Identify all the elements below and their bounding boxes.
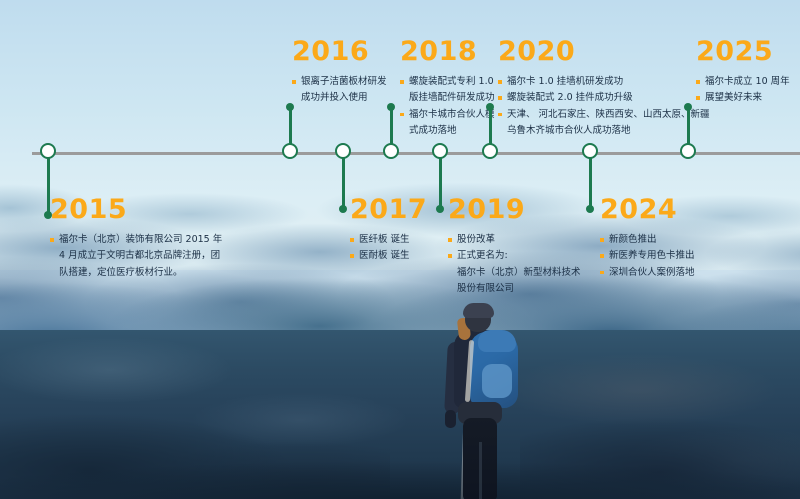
timeline-node-enddot-2019 — [436, 205, 444, 213]
timeline-year-label-2020: 2020 — [498, 38, 710, 65]
timeline-bullet: 股份改革 — [448, 232, 581, 247]
timeline-node-stem-2017 — [342, 157, 345, 209]
timeline-bullet: 福尔卡 1.0 挂墙机研发成功 — [498, 74, 710, 89]
hiker-hand — [445, 410, 456, 428]
timeline-entry-2016: 2016银离子洁菌板材研发成功并投入使用 — [292, 38, 387, 107]
timeline-bullet: 深圳合伙人案例落地 — [600, 265, 695, 280]
timeline-bullet: 天津、 河北石家庄、陕西西安、山西太原、新疆 — [498, 107, 710, 122]
timeline-bullet-list-2019: 股份改革正式更名为:福尔卡（北京）新型材料技术股份有限公司 — [448, 232, 581, 297]
timeline-node-2017[interactable] — [335, 143, 355, 163]
timeline-node-enddot-2018 — [387, 103, 395, 111]
foreground-ridge-bottom — [0, 446, 800, 499]
timeline-bullet: 队搭建，定位医疗板材行业。 — [50, 265, 222, 280]
timeline-entry-2015: 2015福尔卡（北京）装饰有限公司 2015 年4 月成立于文明古都北京品牌注册… — [50, 196, 222, 281]
timeline-infographic: 2015福尔卡（北京）装饰有限公司 2015 年4 月成立于文明古都北京品牌注册… — [0, 0, 800, 499]
timeline-entry-2025: 2025福尔卡成立 10 周年展望美好未来 — [696, 38, 790, 107]
timeline-node-circle-2018 — [383, 143, 399, 159]
timeline-node-circle-2015 — [40, 143, 56, 159]
timeline-node-enddot-2016 — [286, 103, 294, 111]
timeline-node-enddot-2025 — [684, 103, 692, 111]
timeline-bullet-list-2017: 医纤板 诞生医耐板 诞生 — [350, 232, 427, 264]
timeline-bullet: 福尔卡（北京）新型材料技术 — [448, 265, 581, 280]
timeline-bullet-list-2015: 福尔卡（北京）装饰有限公司 2015 年4 月成立于文明古都北京品牌注册，团队搭… — [50, 232, 222, 280]
timeline-bullet: 新医养专用色卡推出 — [600, 248, 695, 263]
timeline-bullet: 新颜色推出 — [600, 232, 695, 247]
timeline-entry-2018: 2018螺旋装配式专利 1.0版挂墙配件研发成功福尔卡城市合伙人模式成功落地 — [400, 38, 495, 140]
timeline-year-label-2015: 2015 — [50, 196, 222, 223]
timeline-bullet: 福尔卡成立 10 周年 — [696, 74, 790, 89]
timeline-node-circle-2024 — [582, 143, 598, 159]
timeline-year-label-2025: 2025 — [696, 38, 790, 65]
timeline-year-label-2017: 2017 — [350, 196, 427, 223]
timeline-bullet: 式成功落地 — [400, 123, 495, 138]
timeline-node-2025[interactable] — [680, 143, 700, 163]
timeline-bullet: 福尔卡（北京）装饰有限公司 2015 年 — [50, 232, 222, 247]
timeline-bullet-list-2024: 新颜色推出新医养专用色卡推出深圳合伙人案例落地 — [600, 232, 695, 280]
timeline-bullet: 福尔卡城市合伙人模 — [400, 107, 495, 122]
timeline-node-enddot-2015 — [44, 211, 52, 219]
timeline-year-label-2019: 2019 — [448, 196, 581, 223]
timeline-node-stem-2015 — [47, 157, 50, 215]
timeline-node-circle-2016 — [282, 143, 298, 159]
timeline-bullet: 螺旋装配式 2.0 挂件成功升级 — [498, 90, 710, 105]
timeline-year-label-2018: 2018 — [400, 38, 495, 65]
timeline-node-2016[interactable] — [282, 143, 302, 163]
timeline-node-enddot-2017 — [339, 205, 347, 213]
timeline-node-2018[interactable] — [383, 143, 403, 163]
timeline-bullet: 乌鲁木齐城市合伙人成功落地 — [498, 123, 710, 138]
timeline-node-enddot-2024 — [586, 205, 594, 213]
timeline-entry-2020: 2020福尔卡 1.0 挂墙机研发成功螺旋装配式 2.0 挂件成功升级天津、 河… — [498, 38, 710, 140]
timeline-year-label-2016: 2016 — [292, 38, 387, 65]
timeline-entry-2017: 2017医纤板 诞生医耐板 诞生 — [350, 196, 427, 265]
timeline-node-2020[interactable] — [482, 143, 502, 163]
timeline-node-circle-2019 — [432, 143, 448, 159]
timeline-entry-2019: 2019股份改革正式更名为:福尔卡（北京）新型材料技术股份有限公司 — [448, 196, 581, 298]
timeline-bullet: 正式更名为: — [448, 248, 581, 263]
timeline-bullet: 版挂墙配件研发成功 — [400, 90, 495, 105]
timeline-node-2024[interactable] — [582, 143, 602, 163]
timeline-bullet: 股份有限公司 — [448, 281, 581, 296]
backpack-lid — [478, 330, 516, 352]
timeline-bullet: 展望美好未来 — [696, 90, 790, 105]
timeline-node-stem-2019 — [439, 157, 442, 209]
timeline-bullet-list-2020: 福尔卡 1.0 挂墙机研发成功螺旋装配式 2.0 挂件成功升级天津、 河北石家庄… — [498, 74, 710, 139]
timeline-bullet: 银离子洁菌板材研发 — [292, 74, 387, 89]
timeline-node-circle-2020 — [482, 143, 498, 159]
hiker-cap — [463, 303, 494, 318]
timeline-bullet: 螺旋装配式专利 1.0 — [400, 74, 495, 89]
timeline-bullet: 4 月成立于文明古都北京品牌注册，团 — [50, 248, 222, 263]
hiker-leg-split — [479, 442, 482, 499]
hiker-figure — [432, 306, 552, 499]
timeline-bullet-list-2025: 福尔卡成立 10 周年展望美好未来 — [696, 74, 790, 106]
timeline-bullet: 医纤板 诞生 — [350, 232, 427, 247]
timeline-node-2019[interactable] — [432, 143, 452, 163]
timeline-bullet: 成功并投入使用 — [292, 90, 387, 105]
timeline-node-circle-2017 — [335, 143, 351, 159]
backpack-pocket — [482, 364, 512, 398]
timeline-year-label-2024: 2024 — [600, 196, 695, 223]
timeline-bullet: 医耐板 诞生 — [350, 248, 427, 263]
timeline-bullet-list-2016: 银离子洁菌板材研发成功并投入使用 — [292, 74, 387, 106]
timeline-entry-2024: 2024新颜色推出新医养专用色卡推出深圳合伙人案例落地 — [600, 196, 695, 281]
timeline-node-stem-2024 — [589, 157, 592, 209]
timeline-node-2015[interactable] — [40, 143, 60, 163]
timeline-bullet-list-2018: 螺旋装配式专利 1.0版挂墙配件研发成功福尔卡城市合伙人模式成功落地 — [400, 74, 495, 139]
timeline-node-circle-2025 — [680, 143, 696, 159]
timeline-node-enddot-2020 — [486, 103, 494, 111]
